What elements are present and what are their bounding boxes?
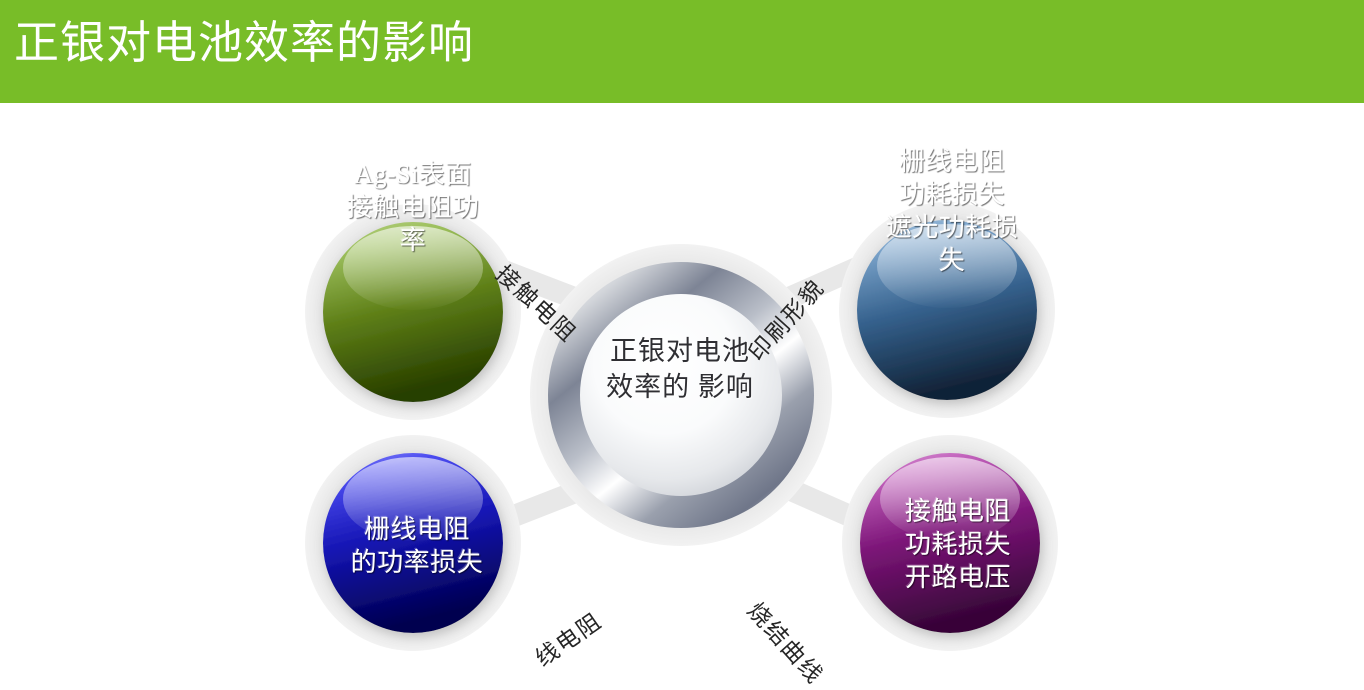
center-hub[interactable]: [530, 244, 832, 546]
node-bottomright[interactable]: [842, 435, 1058, 651]
center-hub-inner: [580, 294, 782, 496]
node-bottomleft-gloss-icon: [343, 457, 483, 541]
diagram-canvas: Ag-Si表面 接触电阻功 率 栅线电阻 功耗损失 遮光功耗损 失 栅线电阻 的…: [0, 103, 1364, 657]
node-topleft[interactable]: [305, 204, 521, 420]
title-banner: 正银对电池效率的影响: [0, 0, 1364, 103]
node-bottomright-gloss-icon: [880, 457, 1020, 541]
page-title: 正银对电池效率的影响: [14, 14, 474, 72]
node-bottomleft[interactable]: [305, 435, 521, 651]
node-topright-gloss-icon: [877, 224, 1017, 308]
diagram-graphic: [0, 103, 1364, 657]
node-topleft-gloss-icon: [343, 226, 483, 310]
node-topright[interactable]: [839, 202, 1055, 418]
